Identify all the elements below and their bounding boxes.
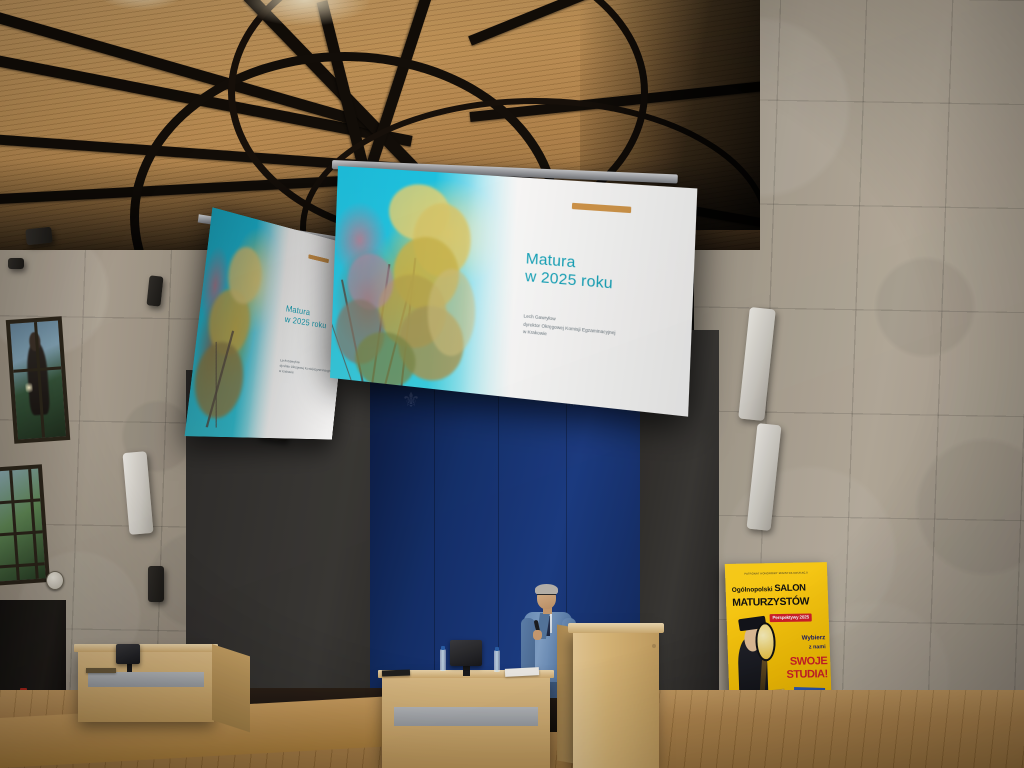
presenter-left-arm xyxy=(521,618,535,674)
slide-photo-fade xyxy=(460,174,555,401)
confidence-monitor xyxy=(450,640,482,666)
slide-subtitle: Lech Gawryłow dyrektor Okręgowej Komisji… xyxy=(523,313,692,352)
water-bottle-left xyxy=(440,649,446,671)
side-desk-cable xyxy=(86,668,116,673)
water-bottle-right xyxy=(494,650,500,672)
banner-cta-line2: z nami xyxy=(809,644,826,650)
remote-control xyxy=(382,670,410,677)
presenters-table xyxy=(382,676,550,768)
presentation-slide: Matura w 2025 roku Lech Gawryłow dyrekto… xyxy=(330,166,697,417)
slide-accent-bar xyxy=(572,203,632,213)
secondary-projection-screen: Matura w 2025 roku Lech Gawryłow dyrekto… xyxy=(185,207,352,439)
main-projection-screen[interactable]: Matura w 2025 roku Lech Gawryłow dyrekto… xyxy=(330,166,697,417)
side-monitor xyxy=(116,644,140,664)
tall-window-lower xyxy=(0,464,50,586)
secondary-slide-accent-bar xyxy=(308,254,329,263)
lecture-hall-photo: ⚜ UNIWERSYTET JAGIELLOŃSKI W KRAKOWIE xyxy=(0,0,1024,768)
wall-clock xyxy=(46,571,64,590)
side-desk-side-face xyxy=(212,644,250,732)
banner-title-small: Ogólnopolski SALON xyxy=(732,581,806,593)
ceiling-spotlight-2 xyxy=(8,258,24,269)
banner-cta-line1: Wybierz xyxy=(802,634,826,641)
eyeglasses-icon xyxy=(537,594,556,598)
side-desk-top-edge xyxy=(74,644,218,652)
presenter-hand xyxy=(533,630,542,640)
ceiling-spotlight xyxy=(25,227,53,246)
banner-cta-line3: SWOJE xyxy=(790,655,828,668)
side-desk-front-panel xyxy=(88,672,205,688)
lectern-top-surface xyxy=(568,623,664,633)
lectern-knob xyxy=(652,644,656,648)
wooden-lectern xyxy=(573,630,659,768)
table-front-panel xyxy=(394,707,538,725)
banner-eyebrow: PATRONAT HONOROWY MINISTRA EDUKACJI xyxy=(731,572,821,577)
banner-cta-line4: STUDIA! xyxy=(786,669,828,682)
university-crest-icon: ⚜ xyxy=(398,388,424,428)
side-desk xyxy=(78,650,214,722)
tall-window-upper xyxy=(6,316,71,444)
wall-bracket-left xyxy=(148,566,164,602)
secondary-slide: Matura w 2025 roku Lech Gawryłow dyrekto… xyxy=(185,207,352,439)
